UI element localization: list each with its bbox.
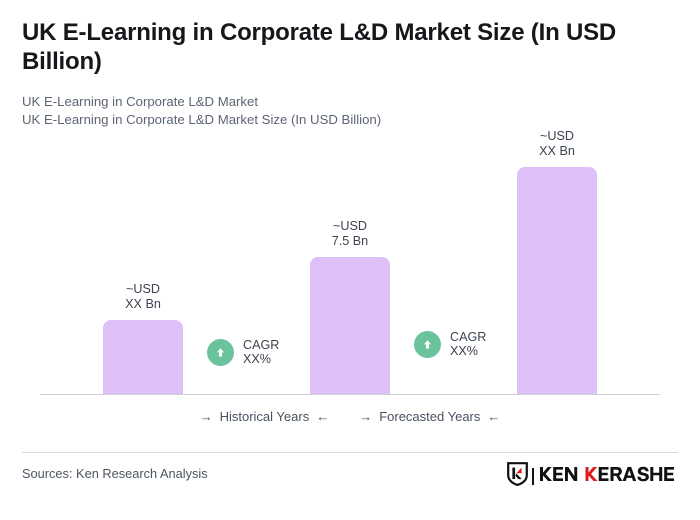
x-axis-line [40,394,660,395]
ken-research-logo [507,462,678,491]
bar-value-label-3-line1: ~USD [540,129,574,143]
arrow-up-icon [414,331,441,358]
bar-value-label-3: ~USDXX Bn [517,129,597,158]
bar-value-label-1-line1: ~USD [126,282,160,296]
cagr-annotation-2-line1: CAGR [450,330,486,344]
cagr-annotation-1: CAGRXX% [207,338,279,366]
ken-research-shield-icon [507,462,528,491]
bar-value-label-2: ~USD7.5 Bn [310,219,390,248]
bar-2[interactable] [310,257,390,394]
logo-divider [532,468,534,485]
chart-page: UK E-Learning in Corporate L&D Market Si… [0,0,700,520]
bar-1[interactable] [103,320,183,394]
ken-research-wordmark-icon [538,464,678,489]
cagr-annotation-2-line2: XX% [450,344,478,358]
bar-value-label-2-line1: ~USD [333,219,367,233]
arrow-left-icon: ← [316,410,329,423]
arrow-right-icon: → [359,410,372,423]
period-legend-forecasted: → Forecasted Years ← [359,409,500,424]
arrow-left-icon: ← [487,410,500,423]
chart-plot-area: ~USDXX Bn ~USD7.5 Bn ~USDXX Bn CAGRXX% C [0,0,700,440]
cagr-annotation-1-line2: XX% [243,352,271,366]
period-legend: → Historical Years ← → Forecasted Years … [0,409,700,424]
sources-text: Sources: Ken Research Analysis [22,466,208,481]
chart-footer: Sources: Ken Research Analysis [0,453,700,520]
bar-value-label-1: ~USDXX Bn [103,282,183,311]
arrow-right-icon: → [200,410,213,423]
period-legend-historical: → Historical Years ← [200,409,330,424]
bar-value-label-3-line2: XX Bn [539,144,575,158]
cagr-annotation-1-text: CAGRXX% [243,338,279,366]
period-legend-historical-label: Historical Years [220,409,310,424]
bar-value-label-1-line2: XX Bn [125,297,161,311]
cagr-annotation-1-line1: CAGR [243,338,279,352]
cagr-annotation-2-text: CAGRXX% [450,330,486,358]
arrow-up-icon [207,339,234,366]
period-legend-forecasted-label: Forecasted Years [379,409,480,424]
cagr-annotation-2: CAGRXX% [414,330,486,358]
bar-value-label-2-line2: 7.5 Bn [332,234,368,248]
bar-3[interactable] [517,167,597,394]
